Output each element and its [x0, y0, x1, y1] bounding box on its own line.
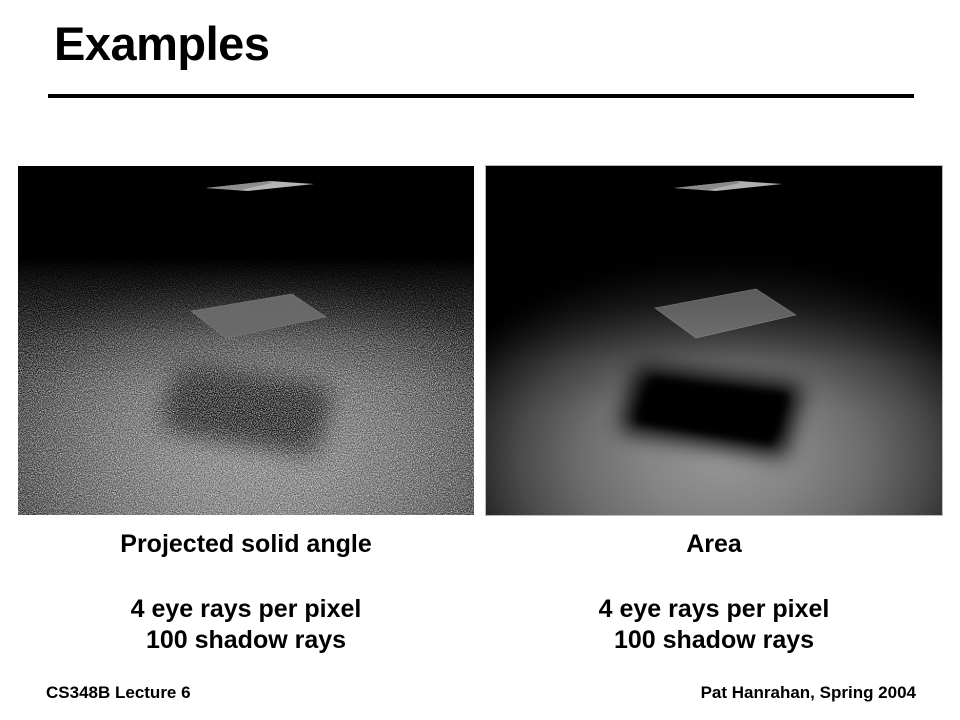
soft-shadow-left	[136, 341, 366, 476]
caption-line-left-1: 4 eye rays per pixel	[18, 594, 474, 625]
area-light-quad-left	[200, 178, 320, 194]
caption-line-left-2: 100 shadow rays	[18, 625, 474, 656]
slide: Examples	[0, 0, 960, 720]
render-image-projected-solid-angle	[18, 166, 474, 515]
caption-title-left: Projected solid angle	[18, 532, 474, 557]
footer-course-label: CS348B Lecture 6	[46, 683, 191, 703]
caption-detail-right: 4 eye rays per pixel 100 shadow rays	[486, 594, 942, 655]
caption-line-right-1: 4 eye rays per pixel	[486, 594, 942, 625]
area-light-quad-right	[668, 178, 788, 194]
footer-author-label: Pat Hanrahan, Spring 2004	[701, 683, 916, 703]
figure-row	[0, 166, 960, 516]
render-stage-left	[18, 166, 474, 515]
render-stage-right	[486, 166, 942, 515]
caption-title-right: Area	[486, 532, 942, 557]
soft-shadow-right	[594, 338, 844, 483]
caption-line-right-2: 100 shadow rays	[486, 625, 942, 656]
occluder-quad-right	[644, 278, 814, 344]
page-title: Examples	[54, 20, 269, 67]
render-image-area	[486, 166, 942, 515]
title-divider	[48, 94, 914, 98]
caption-detail-left: 4 eye rays per pixel 100 shadow rays	[18, 594, 474, 655]
occluder-quad-left	[178, 281, 338, 343]
